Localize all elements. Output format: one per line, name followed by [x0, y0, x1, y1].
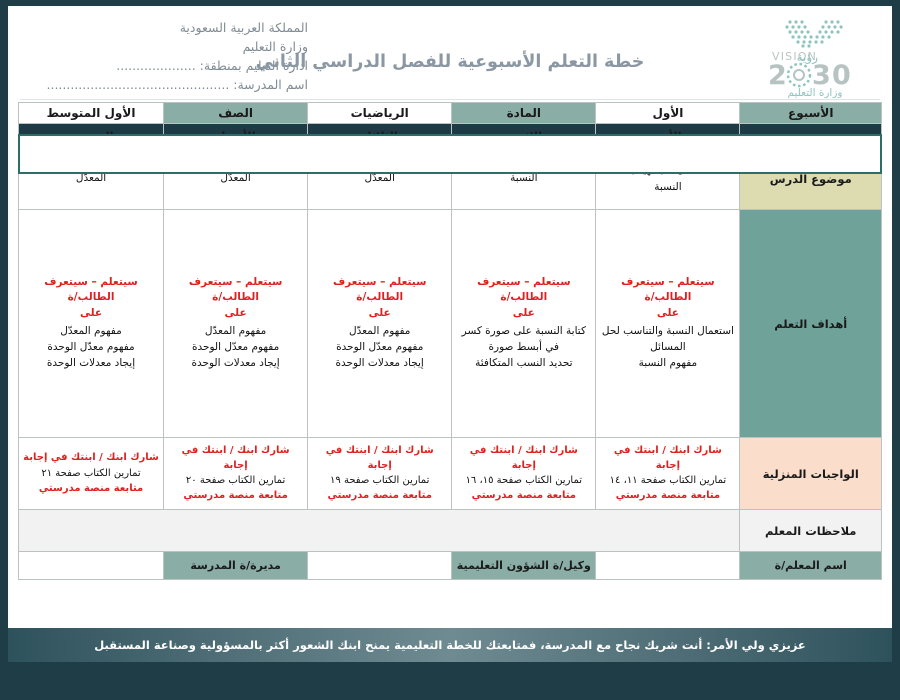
homework-head-2: شارك ابنك / ابنتك في إجابة [312, 444, 447, 473]
header-institution-block: المملكة العربية السعودية وزارة التعليم ا… [18, 14, 308, 94]
objective-body-0: استعمال النسبة والتناسب لحلالمسائلمفهوم … [600, 323, 735, 372]
table-row-signatures: اسم المعلم/ة وكيل/ة الشؤون التعليمية مدي… [19, 552, 882, 580]
objective-head-0: سيتعلم – سيتعرف الطالب/ةعلى [600, 275, 735, 321]
week-label: الأسبوع [740, 103, 882, 124]
supervisor-label: وكيل/ة الشؤون التعليمية [452, 552, 596, 580]
row-label-teacher-notes: ملاحظات المعلم [740, 510, 882, 552]
grade-label: الصف [164, 103, 308, 124]
objective-body-4: مفهوم المعدّلمفهوم معدّل الوحدةإيجاد معد… [23, 323, 159, 372]
homework-body-3: تمارين الكتاب صفحة ٢٠ [168, 473, 303, 488]
objective-head-2: سيتعلم – سيتعرف الطالب/ةعلى [312, 275, 447, 321]
table-row-learning-objectives: أهداف التعلم سيتعلم – سيتعرف الطالب/ةعلى… [19, 210, 882, 438]
homework-foot-0: متابعة منصة مدرستي [600, 488, 735, 503]
homework-foot-3: متابعة منصة مدرستي [168, 488, 303, 503]
vision-2030-logo: VISION رؤية 2 3 0 وزارة التعليم [756, 14, 874, 98]
objective-cell-2[interactable]: سيتعلم – سيتعرف الطالب/ةعلى مفهوم المعدّ… [308, 210, 452, 438]
objective-head-4: سيتعلم – سيتعرف الطالب/ةعلى [23, 275, 159, 321]
objective-cell-4[interactable]: سيتعلم – سيتعرف الطالب/ةعلى مفهوم المعدّ… [19, 210, 164, 438]
objective-body-3: مفهوم المعدّلمفهوم معدّل الوحدةإيجاد معد… [168, 323, 303, 372]
teacher-name-label: اسم المعلم/ة [740, 552, 882, 580]
homework-cell-0[interactable]: شارك ابنك / ابنتك في إجابة تمارين الكتاب… [596, 438, 740, 510]
homework-head-0: شارك ابنك / ابنتك في إجابة [600, 444, 735, 473]
objective-body-2: مفهوم المعدّلمفهوم معدّل الوحدةإيجاد معد… [312, 323, 447, 372]
homework-foot-2: متابعة منصة مدرستي [312, 488, 447, 503]
teacher-notes-field[interactable] [19, 510, 740, 552]
input-overlay-box[interactable] [18, 134, 882, 174]
svg-text:2: 2 [768, 60, 787, 91]
objective-cell-3[interactable]: سيتعلم – سيتعرف الطالب/ةعلى مفهوم المعدّ… [164, 210, 308, 438]
homework-head-3: شارك ابنك / ابنتك في إجابة [168, 444, 303, 473]
table-row-info: الأسبوع الأول المادة الرياضيات الصف الأو… [19, 103, 882, 124]
homework-cell-3[interactable]: شارك ابنك / ابنتك في إجابة تمارين الكتاب… [164, 438, 308, 510]
homework-cell-1[interactable]: شارك ابنك / ابنتك في إجابة تمارين الكتاب… [452, 438, 596, 510]
table-row-teacher-notes: ملاحظات المعلم [19, 510, 882, 552]
homework-body-1: تمارين الكتاب صفحة ١٥، ١٦ [456, 473, 591, 488]
header-divider [20, 99, 880, 100]
objective-cell-1[interactable]: سيتعلم – سيتعرف الطالب/ةعلى كتابة النسبة… [452, 210, 596, 438]
supervisor-field[interactable] [308, 552, 452, 580]
homework-head-1: شارك ابنك / ابنتك في إجابة [456, 444, 591, 473]
parent-message-banner: عزيزي ولي الأمر: أنت شريك نجاح مع المدرس… [8, 628, 892, 662]
principal-field[interactable] [19, 552, 164, 580]
principal-label: مديرة/ة المدرسة [164, 552, 308, 580]
document-header: المملكة العربية السعودية وزارة التعليم ا… [8, 6, 892, 102]
homework-body-2: تمارين الكتاب صفحة ١٩ [312, 473, 447, 488]
homework-body-4: تمارين الكتاب صفحة ٢١ [23, 466, 159, 481]
homework-foot-4: متابعة منصة مدرستي [23, 481, 159, 496]
subject-label: المادة [452, 103, 596, 124]
objective-cell-0[interactable]: سيتعلم – سيتعرف الطالب/ةعلى استعمال النس… [596, 210, 740, 438]
objective-head-3: سيتعلم – سيتعرف الطالب/ةعلى [168, 275, 303, 321]
row-label-homework: الواجبات المنزلية [740, 438, 882, 510]
parent-message-text: عزيزي ولي الأمر: أنت شريك نجاح مع المدرس… [94, 638, 806, 652]
ministry-line: وزارة التعليم [18, 37, 308, 56]
school-name-field: اسم المدرسة: ...........................… [18, 75, 308, 94]
subject-value[interactable]: الرياضيات [308, 103, 452, 124]
objective-head-1: سيتعلم – سيتعرف الطالب/ةعلى [456, 275, 591, 321]
kingdom-line: المملكة العربية السعودية [18, 18, 308, 37]
homework-cell-4[interactable]: شارك ابنك / ابنتك في إجابة تمارين الكتاب… [19, 438, 164, 510]
svg-text:وزارة التعليم: وزارة التعليم [788, 87, 843, 98]
plan-table-container: الأسبوع الأول المادة الرياضيات الصف الأو… [8, 102, 892, 628]
homework-head-4: شارك ابنك / ابنتك في إجابة [23, 451, 159, 466]
grade-value[interactable]: الأول المتوسط [19, 103, 164, 124]
table-row-homework: الواجبات المنزلية شارك ابنك / ابنتك في إ… [19, 438, 882, 510]
teacher-name-field[interactable] [596, 552, 740, 580]
objective-body-1: كتابة النسبة على صورة كسرفي أبسط صورةتحد… [456, 323, 591, 372]
week-value[interactable]: الأول [596, 103, 740, 124]
homework-foot-1: متابعة منصة مدرستي [456, 488, 591, 503]
homework-body-0: تمارين الكتاب صفحة ١١، ١٤ [600, 473, 735, 488]
homework-cell-2[interactable]: شارك ابنك / ابنتك في إجابة تمارين الكتاب… [308, 438, 452, 510]
document-page: المملكة العربية السعودية وزارة التعليم ا… [8, 6, 892, 662]
row-label-learning-objectives: أهداف التعلم [740, 210, 882, 438]
region-field: ادارة التعليم بمنطقة: ..................… [18, 56, 308, 75]
